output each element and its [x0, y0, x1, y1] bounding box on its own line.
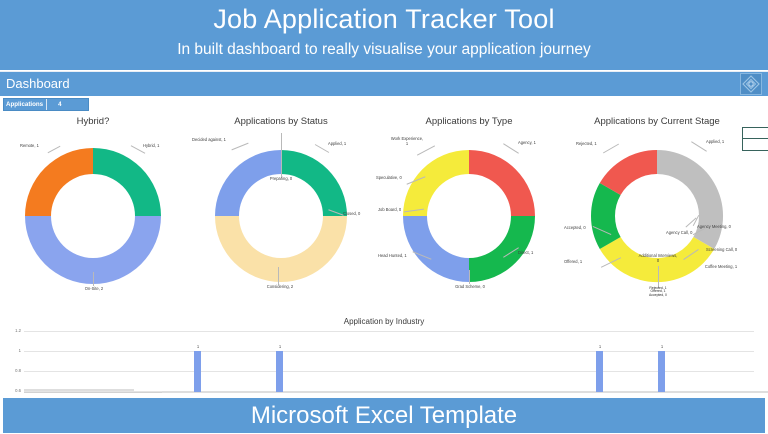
applications-pill-value: 4 [47, 101, 61, 109]
donut-stage-svg [564, 126, 768, 306]
chart-title: Application by Industry [0, 317, 768, 326]
footer-text: Microsoft Excel Template [251, 401, 517, 431]
axis-base-left [24, 389, 134, 391]
title-banner: Job Application Tracker Tool In built da… [0, 0, 768, 70]
axis-base-right [162, 391, 768, 393]
slice-label-hybrid: Hybrid, 1 [143, 143, 159, 148]
slice-label-speculative: Speculative, 0 [376, 175, 402, 180]
bar-value-label: 1 [592, 344, 608, 349]
cluster-label-2: Accepted, 0 [632, 294, 684, 297]
leader-line [658, 266, 659, 288]
chart-applications-by-current-stage[interactable]: Applications by Current Stage Applie [564, 112, 768, 310]
slice-label-screening-call: Screening Call, 0 [706, 247, 737, 252]
footer-banner: Microsoft Excel Template [3, 398, 765, 433]
slice-label-direct: Direct, 1 [518, 250, 533, 255]
chart-applications-by-status[interactable]: Applications by Status Preparing, 0 Appl… [188, 112, 374, 310]
y-axis-tick: 1.2 [0, 328, 21, 333]
leader-line [93, 272, 94, 286]
donut-charts-row: Hybrid? Hybrid, 1 On-Site, 2 Remote, 1 A… [0, 112, 768, 310]
slice-label-grad-scheme: Grad Scheme, 0 [442, 284, 498, 289]
slice-label-offered: Offered, 1 [564, 259, 582, 264]
bar-value-label: 1 [190, 344, 206, 349]
applications-pill-label: Applications [4, 101, 43, 109]
slice-label-head-hunted: Head Hunted, 1 [378, 253, 407, 258]
slice-label-agency-call: Agency Call, 0 [666, 230, 692, 235]
page-title: Job Application Tracker Tool [0, 3, 768, 36]
chart-applications-by-type[interactable]: Applications by Type Agency, 1 Direct, 1… [376, 112, 562, 310]
slice-label-applied: Applied, 1 [706, 139, 724, 144]
sheet-tab-dashboard[interactable]: Dashboard [6, 75, 70, 93]
page-subtitle: In built dashboard to really visualise y… [0, 40, 768, 60]
slice-label-considering: Considering, 2 [254, 284, 306, 289]
slice-label-agency: Agency, 1 [518, 140, 536, 145]
leader-line [469, 270, 470, 284]
sheet-header-bar: Dashboard [0, 71, 768, 96]
slice-label-preparing: Preparing, 0 [258, 176, 304, 181]
chart-application-by-industry[interactable]: Application by Industry 1.2 1 0.8 0.6 1 … [0, 312, 768, 398]
diamond-target-icon[interactable] [740, 73, 762, 95]
chart-legend-box[interactable] [742, 127, 768, 151]
y-axis-tick: 1 [0, 348, 21, 353]
bar-value-label: 1 [272, 344, 288, 349]
slice-label-work-experience: Work Experience, 1 [390, 136, 424, 146]
bar[interactable] [276, 351, 283, 392]
gridline [24, 371, 754, 372]
slice-label-onsite: On-Site, 2 [76, 286, 112, 291]
bar[interactable] [194, 351, 201, 392]
overlapping-label-cluster: Rejected, 1 Offered, 1 Accepted, 0 [632, 287, 684, 297]
bar[interactable] [658, 351, 665, 392]
leader-line [281, 133, 282, 178]
bar-value-label: 1 [654, 344, 670, 349]
leader-line [278, 267, 279, 285]
bar[interactable] [596, 351, 603, 392]
slice-label-accepted: Accepted, 0 [564, 225, 586, 230]
chart-hybrid[interactable]: Hybrid? Hybrid, 1 On-Site, 2 Remote, 1 [0, 112, 186, 310]
slice-label-remote: Remote, 1 [20, 143, 39, 148]
slice-label-applied: Applied, 1 [328, 141, 346, 146]
y-axis-tick: 0.6 [0, 388, 21, 393]
slice-label-rejected: Rejected, 1 [576, 141, 597, 146]
slice-label-job-board: Job Board, 0 [378, 207, 401, 212]
y-axis-tick: 0.8 [0, 368, 21, 373]
slice-label-additional-interviews: Additional Interviews, 0 [638, 253, 678, 263]
legend-divider [743, 138, 768, 139]
slice-label-closed: Closed, 0 [343, 211, 360, 216]
applications-count-pill[interactable]: Applications 4 [3, 98, 89, 111]
gridline [24, 351, 754, 352]
slice-label-decided-against: Decided against, 1 [192, 137, 226, 142]
gridline [24, 331, 754, 332]
slice-label-agency-meeting: Agency Meeting, 0 [697, 224, 731, 229]
slice-label-coffee-meeting: Coffee Meeting, 1 [701, 264, 741, 269]
bar-plot-area: 1.2 1 0.8 0.6 1 1 1 1 [24, 331, 754, 393]
